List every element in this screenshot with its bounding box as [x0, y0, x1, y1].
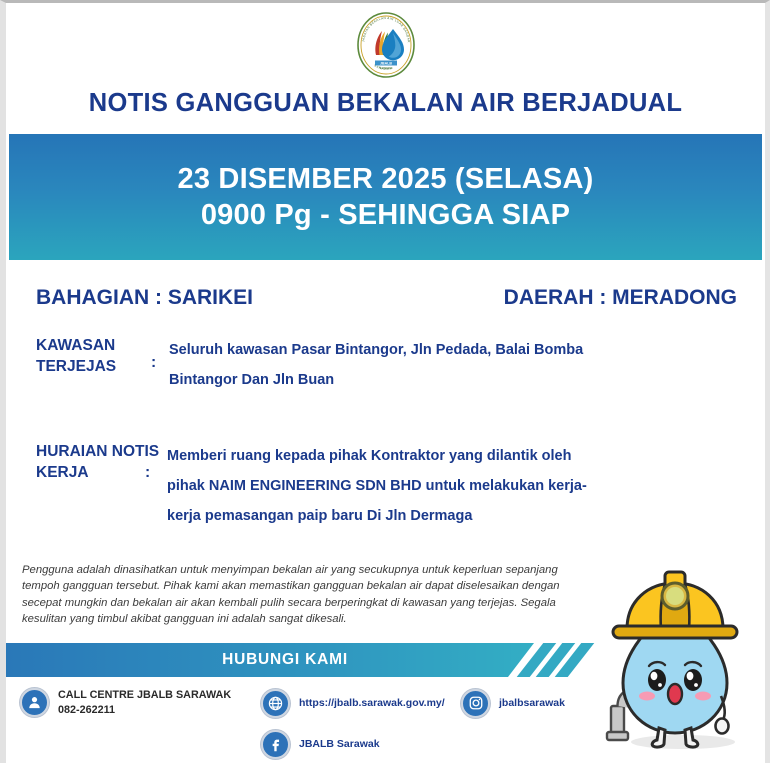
field-kawasan-terjejas: KAWASAN TERJEJAS : Seluruh kawasan Pasar… — [6, 336, 765, 395]
jbalb-seal-logo-icon: JABATAN BEKALAN AIR LUAR BANDAR SARAWAK … — [351, 10, 421, 80]
contact-banner-wrap: HUBUNGI KAMI — [6, 643, 765, 677]
page-title: NOTIS GANGGUAN BEKALAN AIR BERJADUAL — [6, 89, 765, 118]
notice-poster: JABATAN BEKALAN AIR LUAR BANDAR SARAWAK … — [0, 0, 770, 763]
huraian-value: Memberi ruang kepada pihak Kontraktor ya… — [167, 442, 587, 531]
svg-text:SARAWAK: SARAWAK — [379, 66, 392, 70]
huraian-label: HURAIAN NOTIS KERJA — [36, 442, 181, 531]
kawasan-label: KAWASAN TERJEJAS — [36, 336, 151, 395]
date-banner: 23 DISEMBER 2025 (SELASA) 0900 Pg - SEHI… — [9, 134, 762, 260]
kawasan-colon: : — [151, 354, 169, 372]
contact-banner-title: HUBUNGI KAMI — [192, 651, 348, 669]
call-centre-text: CALL CENTRE JBALB SARAWAK 082-262211 — [58, 688, 231, 717]
contact-banner: HUBUNGI KAMI — [6, 643, 534, 677]
field-huraian-notis-kerja: HURAIAN NOTIS KERJA : Memberi ruang kepa… — [6, 442, 765, 531]
instagram-text: jbalbsarawak — [499, 696, 565, 710]
huraian-value-line1: Memberi ruang kepada pihak Kontraktor ya… — [167, 442, 587, 472]
kawasan-value-line2: Bintangor Dan Jln Buan — [169, 366, 583, 396]
instagram-icon — [461, 689, 490, 718]
svg-text:JBALB: JBALB — [380, 62, 392, 66]
daerah-label: DAERAH : MERADONG — [504, 286, 737, 310]
contact-facebook[interactable]: JBALB Sarawak — [261, 730, 380, 759]
facebook-text: JBALB Sarawak — [299, 737, 380, 751]
date-banner-line1: 23 DISEMBER 2025 (SELASA) — [178, 161, 594, 197]
bahagian-label: BAHAGIAN : SARIKEI — [36, 286, 253, 310]
user-icon — [20, 688, 49, 717]
huraian-colon: : — [145, 464, 163, 482]
date-banner-line2: 0900 Pg - SEHINGGA SIAP — [201, 197, 570, 233]
contact-instagram[interactable]: jbalbsarawak — [461, 689, 565, 718]
region-row: BAHAGIAN : SARIKEI DAERAH : MERADONG — [6, 260, 765, 310]
kawasan-value: Seluruh kawasan Pasar Bintangor, Jln Ped… — [169, 336, 583, 395]
disclaimer-text: Pengguna adalah dinasihatkan untuk menyi… — [22, 562, 562, 628]
kawasan-value-line1: Seluruh kawasan Pasar Bintangor, Jln Ped… — [169, 336, 583, 366]
globe-icon — [261, 689, 290, 718]
contact-call-centre[interactable]: CALL CENTRE JBALB SARAWAK 082-262211 — [20, 688, 231, 717]
contacts-section: CALL CENTRE JBALB SARAWAK 082-262211 htt… — [6, 688, 765, 758]
website-text: https://jbalb.sarawak.gov.my/ — [299, 696, 445, 710]
poster-body: BAHAGIAN : SARIKEI DAERAH : MERADONG KAW… — [6, 260, 765, 758]
contact-website[interactable]: https://jbalb.sarawak.gov.my/ — [261, 689, 445, 718]
huraian-value-line3: kerja pemasangan paip baru Di Jln Dermag… — [167, 502, 587, 532]
poster-header: JABATAN BEKALAN AIR LUAR BANDAR SARAWAK … — [6, 3, 765, 134]
huraian-value-line2: pihak NAIM ENGINEERING SDN BHD untuk mel… — [167, 472, 587, 502]
facebook-icon — [261, 730, 290, 759]
